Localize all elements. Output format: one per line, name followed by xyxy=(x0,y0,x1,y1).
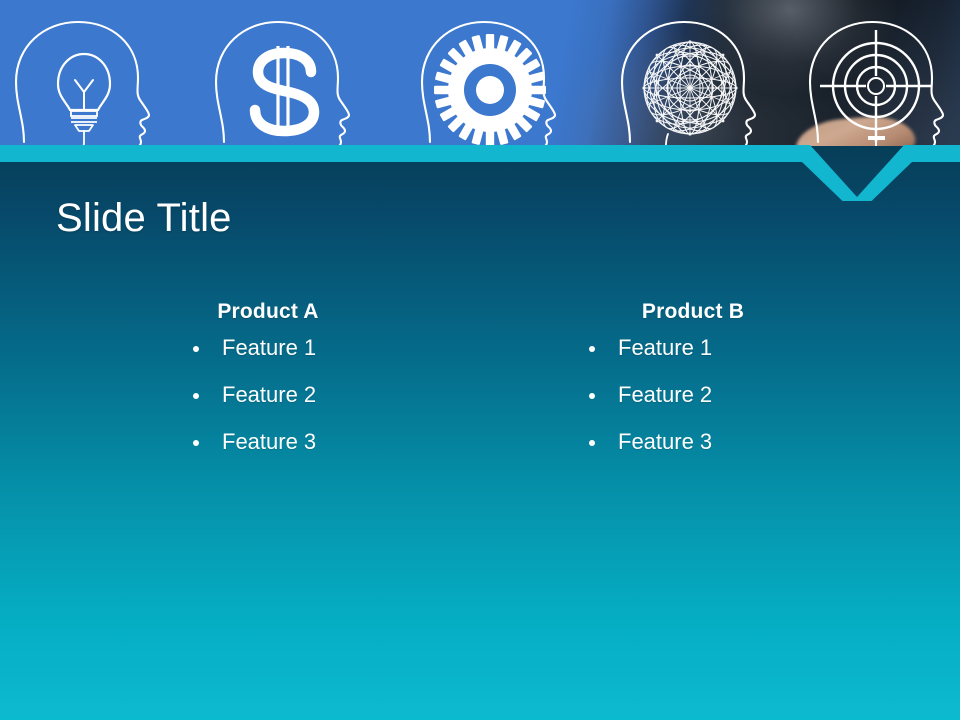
feature-label: Feature 2 xyxy=(618,382,712,407)
list-item: Feature 2 xyxy=(528,384,858,406)
bullet-dot-icon xyxy=(193,346,199,352)
head-network-icon xyxy=(622,22,755,146)
header-banner xyxy=(0,0,960,146)
column-heading-product-b: Product B xyxy=(528,300,858,323)
list-item: Feature 2 xyxy=(103,384,433,406)
list-item: Feature 1 xyxy=(528,337,858,359)
header-icon-row xyxy=(0,0,960,146)
bullet-dot-icon xyxy=(193,393,199,399)
page-title: Slide Title xyxy=(56,196,232,240)
feature-label: Feature 1 xyxy=(222,335,316,360)
feature-label: Feature 3 xyxy=(222,429,316,454)
head-target-icon xyxy=(810,22,943,146)
feature-label: Feature 2 xyxy=(222,382,316,407)
column-product-b: Product B Feature 1 Feature 2 Feature 3 xyxy=(528,300,858,478)
slide: Slide Title Product A Feature 1 Feature … xyxy=(0,0,960,720)
list-item: Feature 3 xyxy=(103,431,433,453)
feature-label: Feature 1 xyxy=(618,335,712,360)
head-dollar-icon xyxy=(216,22,349,146)
content-columns: Product A Feature 1 Feature 2 Feature 3 … xyxy=(0,300,960,500)
bullet-dot-icon xyxy=(589,346,595,352)
feature-list-product-a: Feature 1 Feature 2 Feature 3 xyxy=(103,337,433,453)
bullet-dot-icon xyxy=(589,440,595,446)
bullet-dot-icon xyxy=(589,393,595,399)
feature-label: Feature 3 xyxy=(618,429,712,454)
head-lightbulb-icon xyxy=(16,22,149,146)
bullet-dot-icon xyxy=(193,440,199,446)
head-gear-icon xyxy=(422,22,555,146)
list-item: Feature 1 xyxy=(103,337,433,359)
column-heading-product-a: Product A xyxy=(103,300,433,323)
list-item: Feature 3 xyxy=(528,431,858,453)
column-product-a: Product A Feature 1 Feature 2 Feature 3 xyxy=(103,300,433,478)
feature-list-product-b: Feature 1 Feature 2 Feature 3 xyxy=(528,337,858,453)
